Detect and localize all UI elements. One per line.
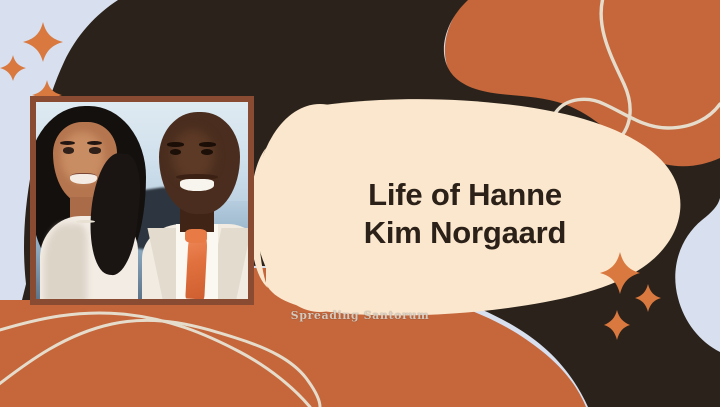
man-tie-knot [185, 229, 206, 243]
slide-title: Life of Hanne Kim Norgaard [300, 176, 630, 252]
woman-eye-right [89, 147, 101, 153]
watermark-text: Spreading Santorum [0, 309, 720, 322]
woman-smile [70, 173, 98, 184]
man-tie [185, 234, 207, 299]
man-brow-left [167, 142, 184, 146]
woman-dress-shadow [44, 224, 86, 299]
couple-photo [36, 102, 248, 299]
title-line-1: Life of Hanne [300, 176, 630, 214]
presentation-slide: Life of Hanne Kim Norgaard Spreading San… [0, 0, 720, 407]
man-brow-right [199, 142, 216, 146]
title-line-2: Kim Norgaard [300, 214, 630, 252]
man-smile [180, 179, 214, 191]
woman-eye-left [63, 147, 75, 153]
photo-frame [30, 96, 254, 305]
